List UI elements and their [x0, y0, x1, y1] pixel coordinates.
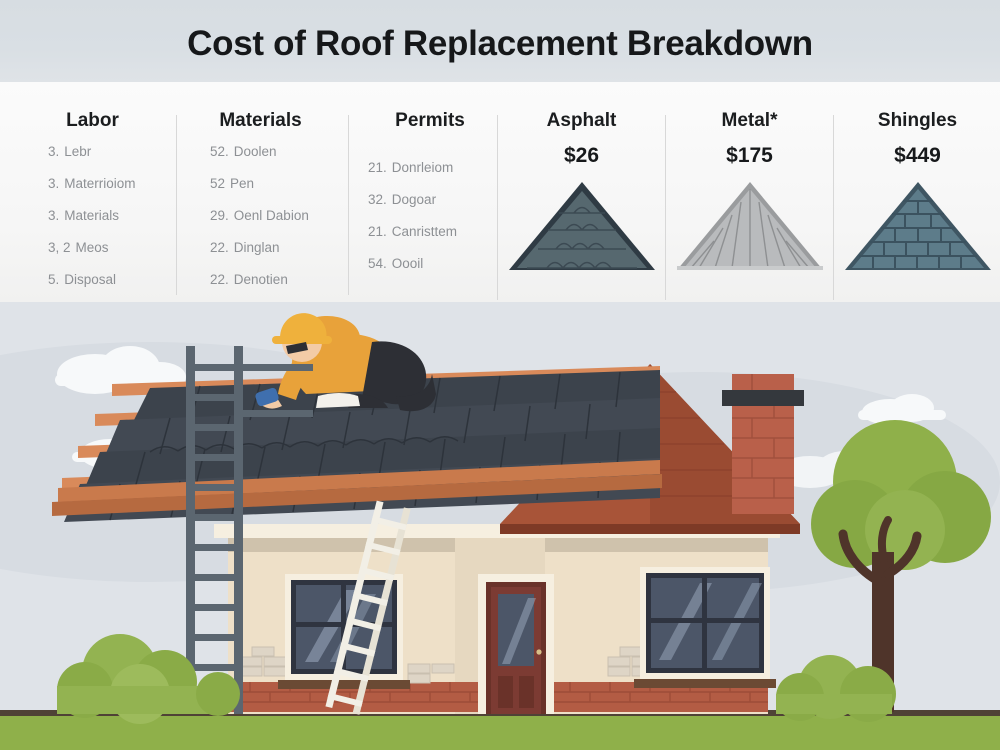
breakdown-column-materials: Materials 52.Doolen 52Pen 29.Oenl Dabion…	[178, 82, 343, 302]
list-item-number: 3.	[48, 176, 59, 191]
house-scene-illustration	[0, 302, 1000, 750]
material-price-asphalt: $26	[499, 144, 664, 168]
list-item-label: Lebr	[64, 144, 91, 159]
list-item-label: Dinglan	[234, 240, 280, 255]
list-item-number: 22.	[210, 272, 229, 287]
list-item-number: 32.	[368, 192, 387, 207]
list-item-label: Denotien	[234, 272, 288, 287]
column-heading-permits: Permits	[350, 110, 510, 132]
cost-breakdown-band: Labor 3.Lebr 3.Materrioiom 3.Materials 3…	[0, 82, 1000, 302]
material-card-metal: Metal* $175	[667, 82, 832, 302]
title-band: Cost of Roof Replacement Breakdown	[0, 0, 1000, 82]
slate-shingle-triangle-icon	[835, 180, 1000, 280]
list-item-label: Doolen	[234, 144, 277, 159]
list-item-number: 21.	[368, 160, 387, 175]
list-item-number: 3.	[48, 144, 59, 159]
breakdown-column-permits: Permits 21.Donrleiom 32.Dogoar 21.Canris…	[350, 82, 510, 302]
material-price-shingles: $449	[835, 144, 1000, 168]
list-item-number: 3.	[48, 208, 59, 223]
list-item-number: 3, 2	[48, 240, 71, 255]
front-door	[478, 574, 554, 714]
metal-ribbed-triangle-icon	[667, 180, 832, 280]
column-divider	[348, 115, 349, 295]
brick-chimney	[722, 374, 804, 514]
material-label-shingles: Shingles	[835, 110, 1000, 132]
material-card-shingles: Shingles $449	[835, 82, 1000, 302]
list-item-number: 29.	[210, 208, 229, 223]
breakdown-list-materials: 52.Doolen 52Pen 29.Oenl Dabion 22.Dingla…	[178, 144, 375, 304]
ladder-foot-bush	[196, 672, 240, 716]
material-label-asphalt: Asphalt	[499, 110, 664, 132]
list-item-label: Oenl Dabion	[234, 208, 309, 223]
page-title: Cost of Roof Replacement Breakdown	[0, 24, 1000, 64]
list-item-number: 21.	[368, 224, 387, 239]
asphalt-shingle-triangle-icon	[499, 180, 664, 280]
list-item-label: Donrleiom	[392, 160, 454, 175]
column-divider	[497, 115, 498, 300]
list-item-label: Dogoar	[392, 192, 436, 207]
list-item-number: 54.	[368, 256, 387, 271]
list-item-number: 52.	[210, 144, 229, 159]
column-divider	[833, 115, 834, 300]
column-heading-materials: Materials	[178, 110, 343, 132]
list-item-label: Disposal	[64, 272, 116, 287]
material-label-metal: Metal*	[667, 110, 832, 132]
column-divider	[665, 115, 666, 300]
material-price-metal: $175	[667, 144, 832, 168]
list-item-label: Pen	[230, 176, 254, 191]
list-item-label: Canristtem	[392, 224, 457, 239]
chimney-cap	[722, 390, 804, 406]
list-item-label: Meos	[76, 240, 109, 255]
breakdown-column-labor: Labor 3.Lebr 3.Materrioiom 3.Materials 3…	[10, 82, 175, 302]
list-item-label: Materrioiom	[64, 176, 135, 191]
list-item-number: 52	[210, 176, 225, 191]
list-item-label: Materials	[64, 208, 119, 223]
material-card-asphalt: Asphalt $26	[499, 82, 664, 302]
right-window	[634, 567, 776, 688]
list-item-number: 5.	[48, 272, 59, 287]
column-divider	[176, 115, 177, 295]
roof-cost-infographic: Cost of Roof Replacement Breakdown Labor…	[0, 0, 1000, 750]
list-item-label: Oooil	[392, 256, 424, 271]
list-item-number: 22.	[210, 240, 229, 255]
column-heading-labor: Labor	[10, 110, 175, 132]
